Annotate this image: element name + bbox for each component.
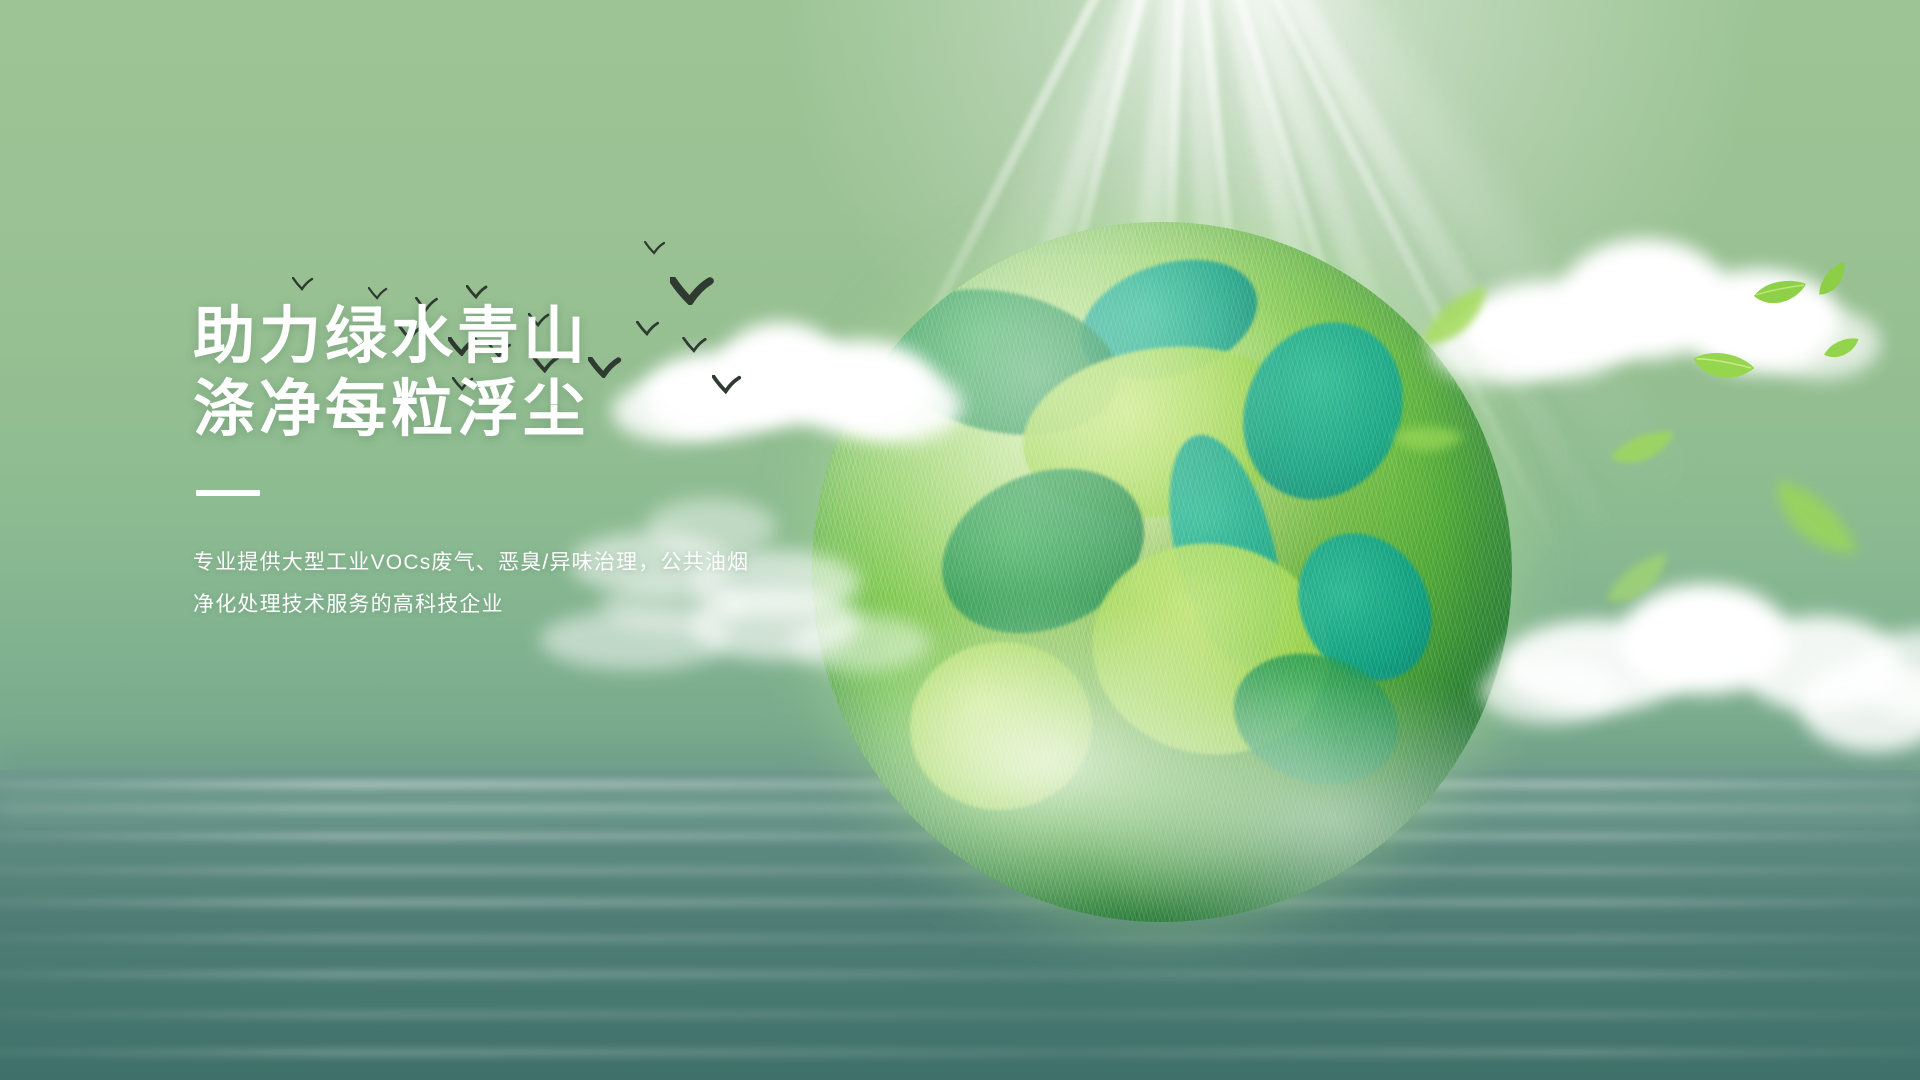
globe-highlight: [812, 222, 1512, 922]
bird-icon: [368, 287, 388, 300]
leaf-icon: [1820, 334, 1864, 366]
headline-line-2: 涤净每粒浮尘: [193, 373, 853, 446]
bird-icon: [466, 285, 488, 299]
title-divider: [196, 490, 260, 496]
leaf-icon: [1606, 425, 1681, 474]
earth-globe: [812, 222, 1512, 922]
hero-subtitle: 专业提供大型工业VOCs废气、恶臭/异味治理，公共油烟净化处理技术服务的高科技企…: [193, 542, 753, 626]
bird-icon: [644, 241, 666, 255]
leaf-icon: [1752, 278, 1808, 312]
leaf-icon: [1810, 258, 1859, 305]
globe-sphere: [812, 222, 1512, 922]
hero-copy: 助力绿水青山 涤净每粒浮尘 专业提供大型工业VOCs废气、恶臭/异味治理，公共油…: [193, 300, 853, 626]
leaf-icon: [1685, 337, 1759, 398]
bird-icon: [292, 277, 314, 291]
leaf-icon: [1594, 546, 1683, 618]
hero-banner: 助力绿水青山 涤净每粒浮尘 专业提供大型工业VOCs废气、恶臭/异味治理，公共油…: [0, 0, 1920, 1080]
leaf-icon: [1755, 458, 1868, 584]
cloud-right-lower: [1480, 540, 1900, 740]
headline-line-1: 助力绿水青山: [193, 300, 853, 373]
